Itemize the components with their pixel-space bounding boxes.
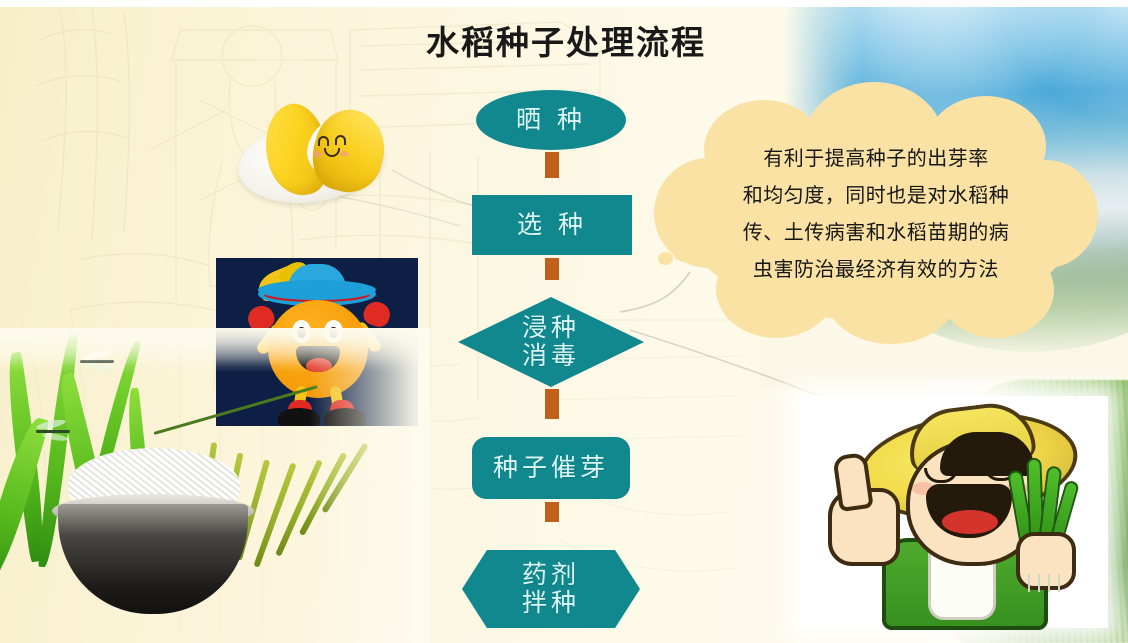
flow-node-step-4[interactable]: 种子催芽 [472,437,630,499]
cloud-line-3: 传、土传病害和水稻苗期的病 [700,214,1052,251]
flow-node-step-4-label: 种子催芽 [472,437,630,499]
cloud-callout: 有利于提高种子的出芽率 和均匀度，同时也是对水稻种 传、土传病害和水稻苗期的病 … [676,118,1074,323]
flow-arrow-1-2 [538,152,566,178]
flow-arrow-3-4 [538,389,566,419]
page-title: 水稻种子处理流程 [396,16,736,64]
onion-root [1058,574,1060,592]
cloud-callout-text: 有利于提高种子的出芽率 和均匀度，同时也是对水稻种 传、土传病害和水稻苗期的病 … [700,140,1052,288]
flow-node-step-2[interactable]: 选 种 [472,195,632,255]
seed-blush-right [340,151,349,157]
flow-node-step-3[interactable]: 浸种 消毒 [458,297,644,387]
farmer-boy-card [800,396,1108,628]
cloud-line-1: 有利于提高种子的出芽率 [700,140,1052,177]
hexagon-shape [462,550,640,628]
flow-node-step-5[interactable]: 药剂 拌种 [462,550,640,628]
boy-hand-right [1016,532,1076,590]
cloud-line-2: 和均匀度，同时也是对水稻种 [700,177,1052,214]
mascot-hat-brim-front [258,280,376,300]
onion-root [1028,574,1030,592]
flow-node-step-2-label: 选 种 [472,195,632,255]
seed-eye-right-icon [335,135,346,145]
smiling-rice-seed-icon [236,92,394,212]
farmer-boy-illustration [800,396,1108,628]
flow-node-step-1[interactable]: 晒 种 [476,90,626,150]
flow-arrow-2-3 [538,258,566,280]
diamond-shape [458,297,644,387]
process-flowchart: 晒 种 选 种 浸种 消毒 种子催芽 [440,80,660,643]
seed-blush-left [313,151,322,157]
onion-root [1038,574,1040,592]
cloud-line-4: 虫害防治最经济有效的方法 [700,251,1052,288]
boy-tongue [942,510,998,534]
flow-node-step-1-label: 晒 种 [476,90,626,150]
flow-arrow-4-5 [538,502,566,522]
slide-canvas: 水稻种子处理流程 晒 种 选 种 浸种 消毒 种子催芽 [0,0,1128,643]
top-white-border [0,0,1128,7]
onion-root [1048,574,1050,592]
seed-eye-left-icon [318,136,329,146]
rice-photo-fade [0,328,430,643]
